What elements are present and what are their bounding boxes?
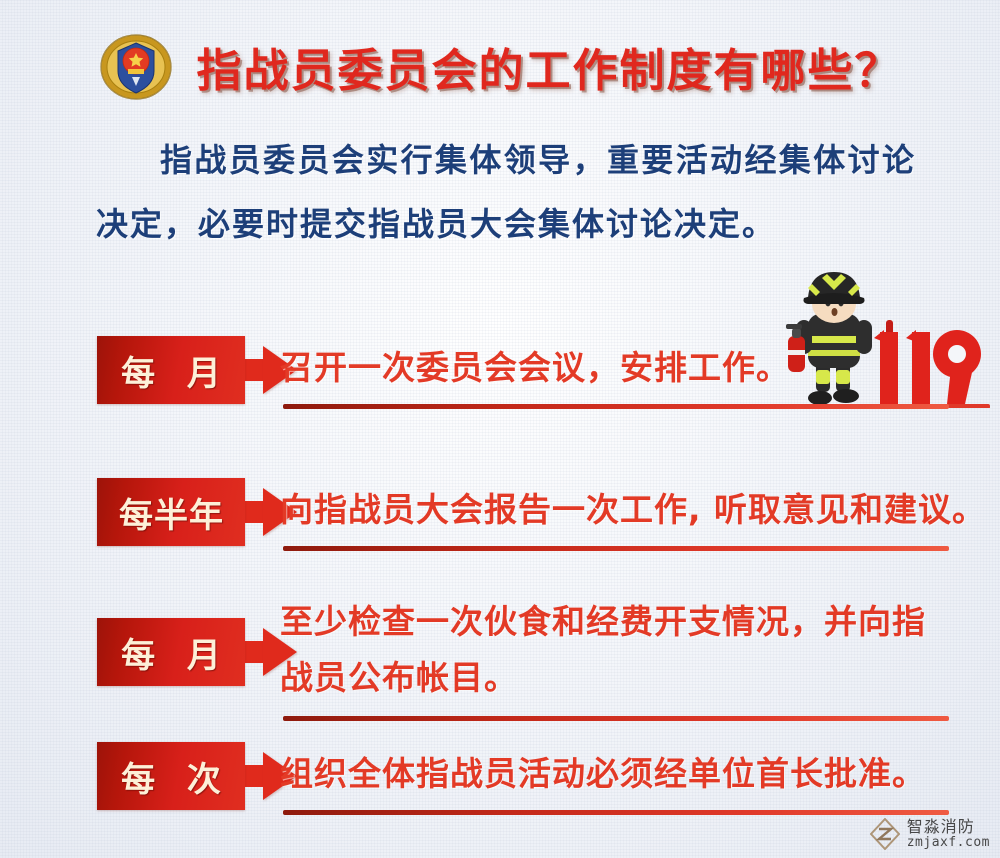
row-label-text: 每半年 bbox=[118, 488, 224, 537]
row-label-text: 每 月 bbox=[111, 346, 231, 395]
row-label-text: 每 月 bbox=[111, 628, 231, 677]
row-label-box: 每 月 bbox=[97, 336, 245, 404]
watermark-text: 智淼消防 zmjaxf.com bbox=[907, 819, 990, 849]
watermark: 智淼消防 zmjaxf.com bbox=[870, 818, 990, 850]
row-label-chip: 每 月 bbox=[97, 618, 297, 686]
row-divider bbox=[283, 546, 949, 551]
arrow-stem-icon bbox=[244, 641, 264, 663]
poster-canvas: 指战员委员会的工作制度有哪些？ 指战员委员会实行集体领导，重要活动经集体讨论决定… bbox=[0, 0, 1000, 858]
row-label-chip: 每 次 bbox=[97, 742, 297, 810]
fire-service-emblem-icon bbox=[98, 31, 174, 101]
poster-header: 指战员委员会的工作制度有哪些？ bbox=[0, 18, 1000, 114]
firefighter-mascot-icon bbox=[782, 258, 994, 408]
zmjaxf-diamond-logo-icon bbox=[870, 818, 900, 850]
row-body-text: 组织全体指战员活动必须经单位首长批准。 bbox=[280, 746, 926, 802]
arrow-stem-icon bbox=[244, 359, 264, 381]
row-body-text: 至少检查一次伙食和经费开支情况，并向指 bbox=[280, 594, 926, 650]
row-label-chip: 每 月 bbox=[97, 336, 297, 404]
row-body-text: 战员公布帐目。 bbox=[280, 650, 518, 706]
page-title: 指战员委员会的工作制度有哪些？ bbox=[196, 34, 901, 99]
row-divider bbox=[283, 716, 949, 721]
arrow-stem-icon bbox=[244, 765, 264, 787]
row-label-box: 每半年 bbox=[97, 478, 245, 546]
arrow-stem-icon bbox=[244, 501, 264, 523]
row-divider bbox=[283, 404, 949, 409]
row-label-box: 每 次 bbox=[97, 742, 245, 810]
watermark-brand-cn: 智淼消防 bbox=[907, 819, 990, 836]
intro-paragraph: 指战员委员会实行集体领导，重要活动经集体讨论决定，必要时提交指战员大会集体讨论决… bbox=[96, 128, 916, 256]
row-label-chip: 每半年 bbox=[97, 478, 297, 546]
row-label-box: 每 月 bbox=[97, 618, 245, 686]
row-body-text: 向指战员大会报告一次工作, 听取意见和建议。 bbox=[280, 482, 986, 538]
row-label-text: 每 次 bbox=[111, 752, 231, 801]
row-divider bbox=[283, 810, 949, 815]
watermark-brand-url: zmjaxf.com bbox=[907, 836, 990, 850]
row-body-text: 召开一次委员会会议，安排工作。 bbox=[280, 340, 790, 396]
